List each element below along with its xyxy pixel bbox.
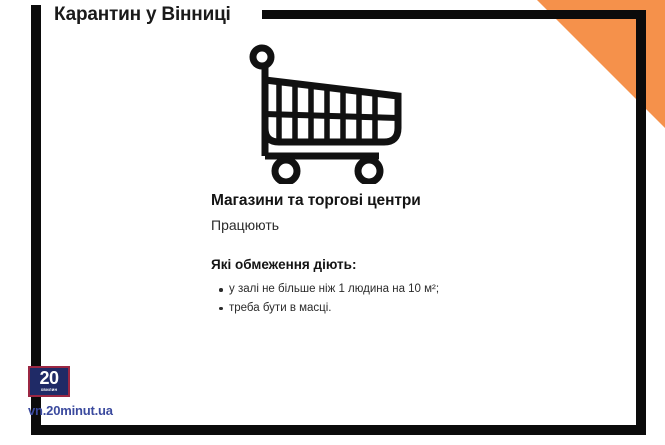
frame-border-bottom <box>31 425 646 435</box>
frame-border-right <box>636 10 646 430</box>
logo-subtext: хвилин <box>41 388 57 392</box>
list-item: у залі не більше ніж 1 людина на 10 м²; <box>229 280 611 299</box>
footer-branding: 20 хвилин vn.20minut.ua <box>28 366 113 418</box>
logo-20minut-mark: 20 хвилин <box>28 366 70 397</box>
site-url[interactable]: vn.20minut.ua <box>28 403 113 418</box>
infographic-card: Карантин у Вінниці <box>0 0 665 445</box>
section-status: Працюють <box>211 217 611 233</box>
list-item: треба бути в масці. <box>229 299 611 318</box>
content-block: Магазини та торгові центри Працюють Які … <box>211 192 611 317</box>
restrictions-heading: Які обмеження діють: <box>211 257 611 272</box>
frame-border-top <box>262 10 646 19</box>
shopping-cart-icon <box>246 44 418 184</box>
section-heading: Магазини та торгові центри <box>211 192 611 210</box>
page-title: Карантин у Вінниці <box>54 4 231 26</box>
restrictions-list: у залі не більше ніж 1 людина на 10 м²; … <box>211 280 611 317</box>
logo-number: 20 <box>39 369 58 387</box>
